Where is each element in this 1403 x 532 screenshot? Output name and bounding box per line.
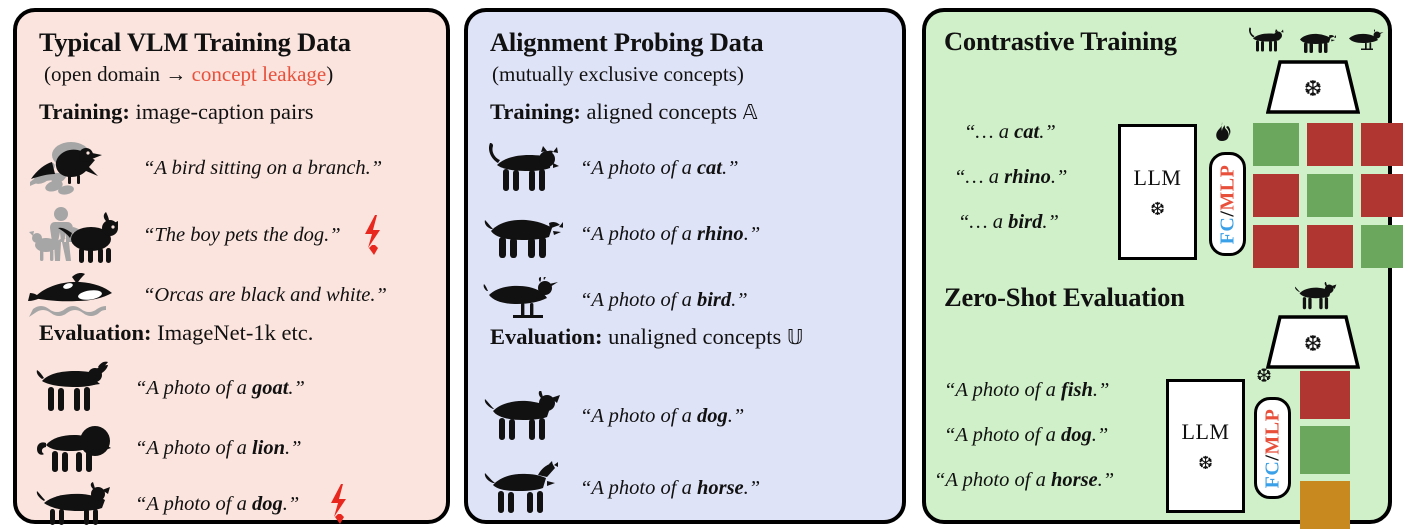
matrix-cell (1307, 174, 1353, 217)
slash-label: / (1216, 210, 1238, 216)
prompt-post: .” (1092, 424, 1109, 446)
list-item: “A photo of a lion.” (35, 422, 450, 474)
list-item: “A photo of a dog.” (35, 480, 450, 528)
caption-post: .” (731, 289, 748, 311)
fc-label: FC (1216, 216, 1238, 244)
matrix-cell (1307, 123, 1353, 166)
prompt-post: .” (1098, 469, 1115, 491)
prompt-pre: “… a (964, 121, 1014, 143)
subtitle-accent-concept-leakage: concept leakage (192, 62, 327, 86)
caption-concept: goat (252, 377, 288, 399)
caption-pre: “A photo of a (580, 157, 697, 179)
list-item: “A photo of a horse.” (482, 460, 902, 516)
training-label: Training: (39, 99, 130, 124)
prompt-text: “… a cat.” (964, 122, 1056, 143)
unaligned-set-symbol: 𝕌 (787, 325, 804, 349)
list-item: “Orcas are black and white.” (27, 270, 447, 320)
caption: “A photo of a lion.” (135, 438, 302, 459)
list-item: “The boy pets the dog.” (27, 204, 447, 266)
caption-pre: “A photo of a (580, 477, 697, 499)
svg-text:❆: ❆ (1304, 77, 1322, 102)
prompt-text: “A photo of a fish.” (944, 380, 1109, 401)
caption-pre: “A photo of a (580, 223, 697, 245)
llm-box-frozen: LLM ❆ (1166, 379, 1245, 513)
bird-icon (1346, 28, 1386, 54)
matrix-cell (1253, 225, 1299, 268)
similarity-matrix (1253, 123, 1403, 268)
caption: “A photo of a rhino.” (580, 224, 760, 245)
llm-box-frozen: LLM ❆ (1118, 124, 1197, 260)
evaluation-section-header: Evaluation: ImageNet-1k etc. (39, 322, 313, 345)
prompt-concept: dog (1061, 424, 1092, 446)
matrix-cell (1361, 225, 1403, 268)
matrix-cell (1253, 123, 1299, 166)
panel-subtitle: (open domain → concept leakage) (44, 64, 333, 85)
panel-title: Typical VLM Training Data (39, 29, 351, 56)
prompt-pre: “A photo of a (944, 379, 1061, 401)
vision-encoder-frozen: ❆ (1266, 315, 1360, 369)
caption-pre: “A photo of a (580, 405, 697, 427)
training-value: image-caption pairs (130, 99, 314, 124)
projector-label: FC/MLP (1216, 164, 1239, 244)
caption-concept: dog (697, 405, 728, 427)
caption-post: .” (744, 477, 761, 499)
llm-label: LLM (1134, 165, 1182, 191)
slash-label: / (1261, 454, 1283, 460)
evaluation-label: Evaluation: (39, 320, 152, 345)
mlp-label: MLP (1261, 408, 1283, 454)
contrastive-training-title: Contrastive Training (944, 28, 1177, 55)
evaluation-label: Evaluation: (490, 324, 603, 349)
caption: “A photo of a dog.” (135, 494, 299, 515)
rhino-icon (482, 208, 564, 260)
prompt-text: “A photo of a horse.” (934, 470, 1114, 491)
projector-fc-mlp-frozen: FC/MLP (1254, 397, 1291, 499)
snowflake-icon: ❆ (1256, 367, 1272, 386)
matrix-cell (1307, 225, 1353, 268)
zero-shot-score-column (1300, 371, 1350, 529)
lightning-bolt-icon (363, 215, 385, 255)
aligned-set-symbol: 𝔸 (743, 100, 758, 124)
projector-label: FC/MLP (1261, 408, 1284, 488)
caption-concept: horse (697, 477, 744, 499)
caption: “A photo of a cat.” (580, 158, 739, 179)
llm-label: LLM (1182, 419, 1230, 445)
caption-post: .” (744, 223, 761, 245)
prompt-text: “… a bird.” (958, 212, 1059, 233)
panel-subtitle: (mutually exclusive concepts) (492, 64, 744, 85)
caption-concept: bird (697, 289, 731, 311)
prompt-post: .” (1039, 121, 1056, 143)
vision-encoder-frozen: ❆ (1266, 60, 1360, 114)
panel-alignment-probing-data: Alignment Probing Data (mutually exclusi… (464, 8, 906, 524)
boy-with-dog-icon (27, 204, 119, 266)
matrix-cell (1253, 174, 1299, 217)
caption-pre: “A photo of a (135, 493, 252, 515)
score-cell (1300, 481, 1350, 529)
caption: “A bird sitting on a branch.” (143, 158, 382, 179)
prompt-concept: bird (1008, 211, 1042, 233)
prompt-post: .” (1042, 211, 1059, 233)
score-cell (1300, 426, 1350, 474)
list-item: “A photo of a dog.” (482, 390, 902, 442)
caption-pre: “A photo of a (135, 437, 252, 459)
caption-post: .” (285, 437, 302, 459)
caption-post: .” (722, 157, 739, 179)
cat-icon (1246, 26, 1286, 54)
training-section-header: Training: aligned concepts 𝔸 (490, 101, 758, 124)
training-section-header: Training: image-caption pairs (39, 101, 314, 124)
caption-post: .” (288, 377, 305, 399)
projector-fc-mlp-trainable: FC/MLP (1209, 152, 1246, 256)
flame-icon (1211, 122, 1233, 151)
subtitle-post: ) (326, 62, 333, 86)
caption: “A photo of a horse.” (580, 478, 760, 499)
prompt-concept: cat (1014, 121, 1039, 143)
prompt-pre: “… a (954, 166, 1004, 188)
caption-post: .” (283, 493, 300, 515)
prompt-pre: “A photo of a (934, 469, 1051, 491)
snowflake-icon: ❆ (1150, 201, 1165, 219)
prompt-concept: horse (1051, 469, 1098, 491)
caption: “A photo of a dog.” (580, 406, 744, 427)
list-item: “A photo of a rhino.” (482, 208, 902, 260)
caption-pre: “A photo of a (580, 289, 697, 311)
dog-icon (1294, 282, 1338, 310)
cat-icon (482, 140, 564, 196)
dog-icon (482, 390, 564, 442)
prompt-post: .” (1093, 379, 1110, 401)
lightning-bolt-icon (329, 484, 351, 524)
snowflake-icon: ❆ (1198, 455, 1213, 473)
score-cell (1300, 371, 1350, 419)
caption-concept: dog (252, 493, 283, 515)
fc-label: FC (1261, 460, 1283, 488)
prompt-post: .” (1051, 166, 1068, 188)
mlp-label: MLP (1216, 164, 1238, 210)
caption: “A photo of a bird.” (580, 290, 748, 311)
caption: “A photo of a goat.” (135, 378, 305, 399)
evaluation-section-header: Evaluation: unaligned concepts 𝕌 (490, 326, 803, 349)
horse-icon (482, 460, 564, 516)
evaluation-value: ImageNet-1k etc. (152, 320, 314, 345)
prompt-text: “A photo of a dog.” (944, 425, 1108, 446)
matrix-cell (1361, 174, 1403, 217)
training-value: aligned concepts (581, 99, 743, 124)
caption: “The boy pets the dog.” (143, 225, 341, 246)
panel-typical-vlm-training-data: Typical VLM Training Data (open domain →… (13, 8, 450, 524)
caption-concept: rhino (697, 223, 744, 245)
list-item: “A photo of a goat.” (35, 360, 450, 416)
orca-icon (27, 270, 119, 320)
evaluation-image-batch (1294, 282, 1338, 310)
bird-icon (482, 276, 564, 324)
goat-icon (35, 360, 113, 416)
panel-title: Alignment Probing Data (490, 29, 763, 56)
list-item: “A bird sitting on a branch.” (27, 137, 447, 199)
rhino-icon (1296, 28, 1336, 54)
lion-icon (35, 422, 113, 474)
svg-text:❆: ❆ (1304, 332, 1322, 357)
prompt-pre: “… a (958, 211, 1008, 233)
panel-method-diagram: Contrastive Training (922, 8, 1392, 524)
prompt-concept: rhino (1004, 166, 1051, 188)
prompt-pre: “A photo of a (944, 424, 1061, 446)
dachshund-icon (35, 480, 113, 528)
list-item: “A photo of a bird.” (482, 276, 902, 324)
caption: “Orcas are black and white.” (143, 285, 387, 306)
training-label: Training: (490, 99, 581, 124)
matrix-cell (1361, 123, 1403, 166)
prompt-concept: fish (1061, 379, 1093, 401)
caption-concept: cat (697, 157, 722, 179)
caption-concept: lion (252, 437, 285, 459)
bird-on-branch-icon (27, 137, 119, 199)
caption-pre: “A photo of a (135, 377, 252, 399)
subtitle-pre: (open domain → (44, 62, 192, 86)
evaluation-value: unaligned concepts (603, 324, 787, 349)
training-image-batch (1246, 26, 1386, 54)
list-item: “A photo of a cat.” (482, 140, 902, 196)
figure-root: Typical VLM Training Data (open domain →… (0, 0, 1403, 532)
prompt-text: “… a rhino.” (954, 167, 1067, 188)
caption-post: .” (728, 405, 745, 427)
zero-shot-evaluation-title: Zero-Shot Evaluation (944, 284, 1185, 311)
